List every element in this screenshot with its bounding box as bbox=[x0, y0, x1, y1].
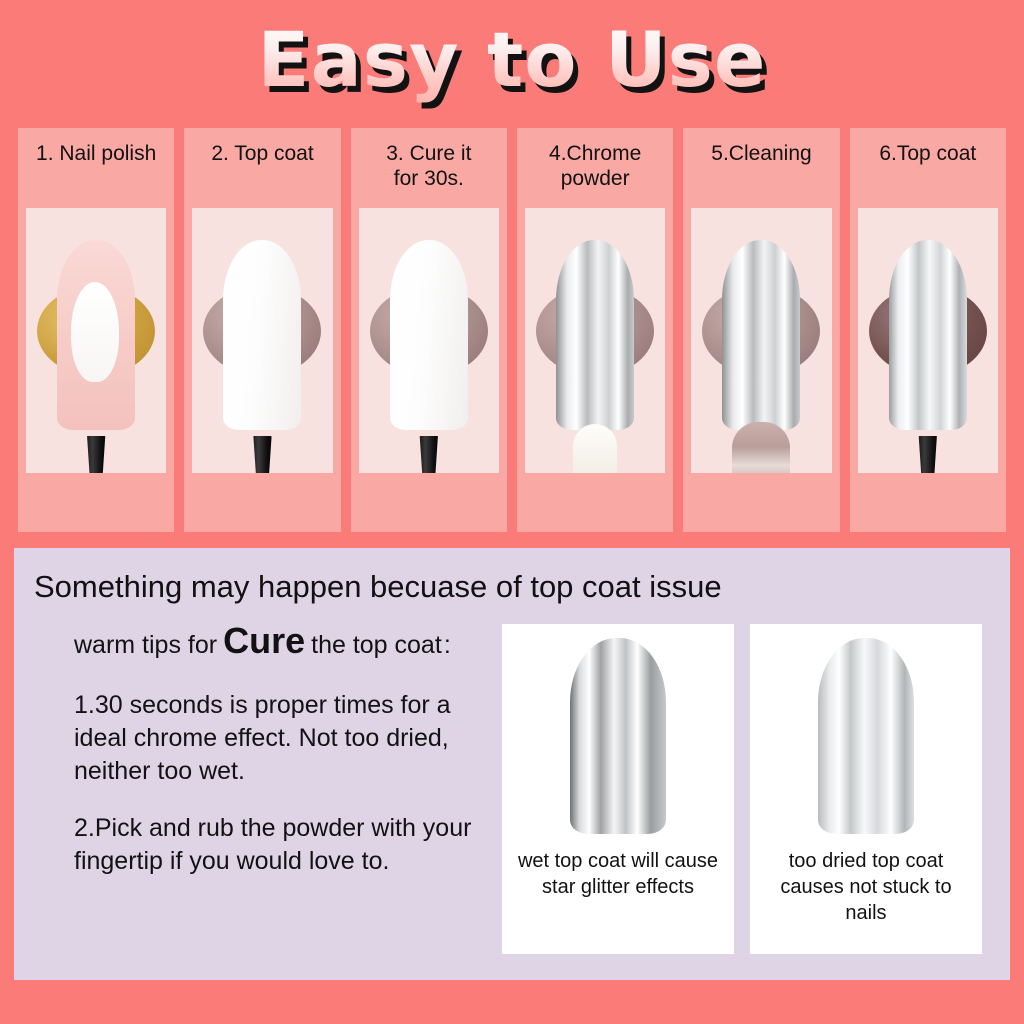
infographic-page: Easy to Use Easy to Use 1. Nail polish 2… bbox=[0, 0, 1024, 1024]
nail-bare-icon bbox=[57, 240, 135, 430]
tip-item-2: 2.Pick and rub the powder with your fing… bbox=[74, 812, 502, 878]
step-label-3-line1: 3. Cure it bbox=[386, 142, 471, 165]
nail-chrome-icon bbox=[889, 240, 967, 430]
page-title-face: Easy to Use bbox=[258, 15, 767, 104]
page-title-text: Easy to Use Easy to Use bbox=[258, 22, 767, 98]
tips-lead-after: the top coat : bbox=[311, 631, 451, 659]
example-card-dried[interactable]: too dried top coat causes not stuck to n… bbox=[750, 624, 982, 954]
step-label-6: 6.Top coat bbox=[875, 128, 980, 192]
nail-white-icon bbox=[223, 240, 301, 430]
step-label-4-line2: powder bbox=[561, 167, 630, 190]
fluffy-brush-icon bbox=[732, 422, 790, 473]
examples-column: wet top coat will cause star glitter eff… bbox=[502, 618, 982, 954]
powder-applicator-icon bbox=[573, 424, 617, 473]
step-photo-1 bbox=[26, 208, 166, 473]
step-label-3-line2: for 30s. bbox=[394, 167, 464, 190]
step-card-4[interactable]: 4.Chrome powder bbox=[517, 128, 673, 532]
tip-item-1: 1.30 seconds is proper times for a ideal… bbox=[74, 689, 502, 788]
step-label-4-line1: 4.Chrome bbox=[549, 142, 641, 165]
step-photo-5 bbox=[691, 208, 831, 473]
step-card-5[interactable]: 5.Cleaning bbox=[683, 128, 839, 532]
panel-heading: Something may happen becuase of top coat… bbox=[14, 548, 1010, 604]
troubleshooting-panel: Something may happen becuase of top coat… bbox=[14, 548, 1010, 980]
example-caption-wet: wet top coat will cause star glitter eff… bbox=[502, 848, 734, 900]
brush-black-icon bbox=[84, 436, 108, 473]
step-label-5: 5.Cleaning bbox=[707, 128, 815, 192]
example-card-wet[interactable]: wet top coat will cause star glitter eff… bbox=[502, 624, 734, 954]
brush-black-icon bbox=[250, 436, 274, 473]
nail-white-icon bbox=[390, 240, 468, 430]
step-photo-4 bbox=[525, 208, 665, 473]
tips-column: warm tips forCurethe top coat : 1.30 sec… bbox=[32, 618, 502, 954]
step-photo-6 bbox=[858, 208, 998, 473]
steps-strip: 1. Nail polish 2. Top coat 3. Cure it fo… bbox=[18, 128, 1006, 532]
step-photo-2 bbox=[192, 208, 332, 473]
dried-chrome-nail-icon bbox=[818, 638, 914, 834]
step-card-3[interactable]: 3. Cure it for 30s. bbox=[351, 128, 507, 532]
step-card-2[interactable]: 2. Top coat bbox=[184, 128, 340, 532]
page-title: Easy to Use Easy to Use bbox=[0, 14, 1024, 106]
step-card-1[interactable]: 1. Nail polish bbox=[18, 128, 174, 532]
step-label-3: 3. Cure it for 30s. bbox=[382, 128, 475, 192]
nail-chrome-icon bbox=[722, 240, 800, 430]
brush-black-icon bbox=[916, 436, 940, 473]
brush-black-icon bbox=[417, 436, 441, 473]
step-label-2: 2. Top coat bbox=[207, 128, 317, 192]
step-photo-3 bbox=[359, 208, 499, 473]
wet-chrome-nail-icon bbox=[570, 638, 666, 834]
nail-chrome-icon bbox=[556, 240, 634, 430]
tips-lead-emphasis: Cure bbox=[217, 620, 311, 661]
tips-lead: warm tips forCurethe top coat : bbox=[74, 618, 502, 663]
step-label-4: 4.Chrome powder bbox=[545, 128, 645, 192]
example-caption-dried: too dried top coat causes not stuck to n… bbox=[750, 848, 982, 926]
step-card-6[interactable]: 6.Top coat bbox=[850, 128, 1006, 532]
tips-lead-before: warm tips for bbox=[74, 631, 217, 659]
step-label-1: 1. Nail polish bbox=[32, 128, 160, 192]
panel-body: warm tips forCurethe top coat : 1.30 sec… bbox=[14, 604, 1010, 954]
